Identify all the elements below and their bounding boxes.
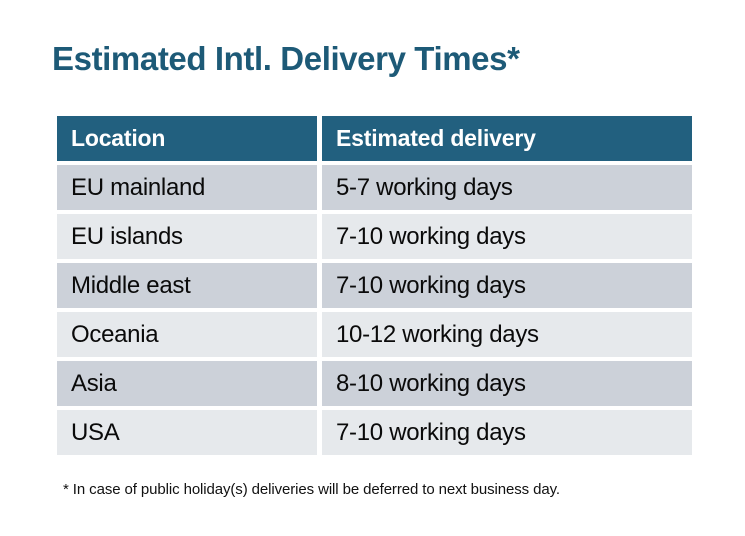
estimated-delivery-times-table: Location Estimated delivery EU mainland …	[52, 112, 697, 459]
table-row: EU islands 7-10 working days	[57, 214, 692, 259]
table-header: Location Estimated delivery	[57, 116, 692, 161]
table-row: Middle east 7-10 working days	[57, 263, 692, 308]
cell-location: EU islands	[57, 214, 317, 259]
cell-location: EU mainland	[57, 165, 317, 210]
cell-delivery: 7-10 working days	[322, 410, 692, 455]
cell-location: Oceania	[57, 312, 317, 357]
cell-delivery: 5-7 working days	[322, 165, 692, 210]
column-header-location: Location	[57, 116, 317, 161]
footnote-text: * In case of public holiday(s) deliverie…	[63, 480, 560, 500]
cell-location: Middle east	[57, 263, 317, 308]
cell-delivery: 8-10 working days	[322, 361, 692, 406]
column-header-estimated-delivery: Estimated delivery	[322, 116, 692, 161]
cell-location: USA	[57, 410, 317, 455]
page-title: Estimated Intl. Delivery Times*	[52, 38, 520, 80]
cell-location: Asia	[57, 361, 317, 406]
table-header-row: Location Estimated delivery	[57, 116, 692, 161]
delivery-times-card: Estimated Intl. Delivery Times* Location…	[0, 0, 745, 536]
table-row: EU mainland 5-7 working days	[57, 165, 692, 210]
table-body: EU mainland 5-7 working days EU islands …	[57, 165, 692, 455]
cell-delivery: 7-10 working days	[322, 263, 692, 308]
table-row: USA 7-10 working days	[57, 410, 692, 455]
cell-delivery: 7-10 working days	[322, 214, 692, 259]
table-row: Oceania 10-12 working days	[57, 312, 692, 357]
cell-delivery: 10-12 working days	[322, 312, 692, 357]
table-row: Asia 8-10 working days	[57, 361, 692, 406]
